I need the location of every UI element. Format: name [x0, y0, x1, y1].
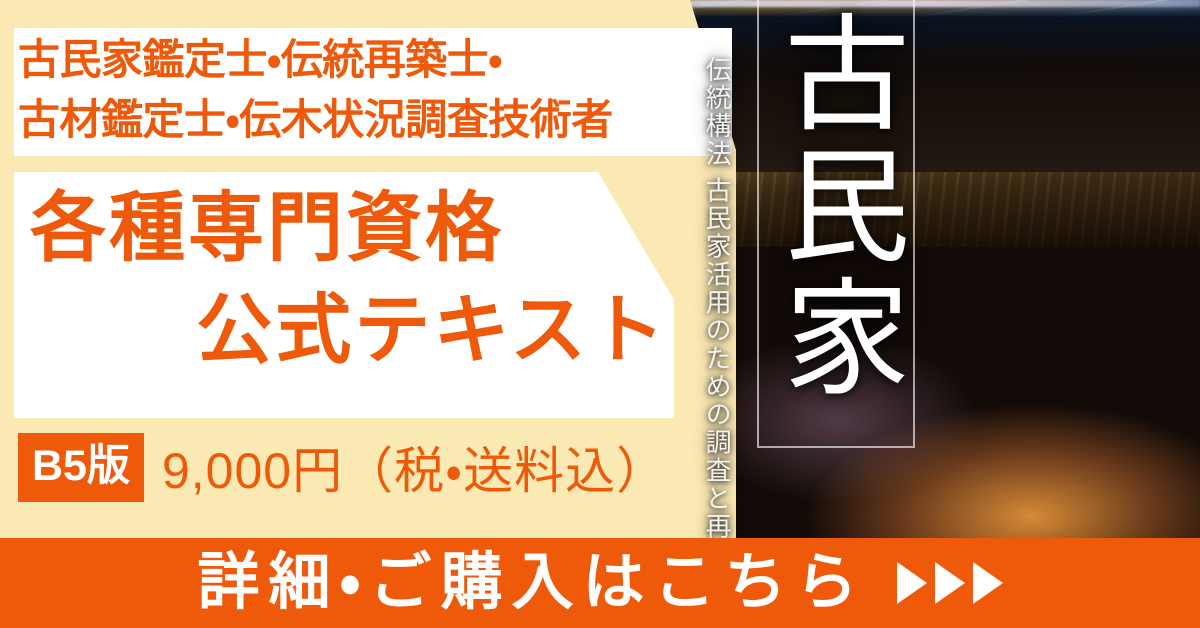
triangle-right-icon	[973, 562, 1003, 604]
cta-button[interactable]: 詳細・ご購入はこちら	[0, 538, 1200, 628]
format-badge: B5版	[18, 433, 144, 502]
qualification-line-2: 古材鑑定士・伝木状況調査技術者	[18, 90, 732, 150]
headline-line-2: 公式テキスト	[14, 280, 674, 382]
cover-subtitle: 伝統構法 古民家活用のための調査と再生の	[702, 56, 731, 556]
cta-arrows	[897, 562, 1003, 604]
triangle-right-icon	[897, 562, 927, 604]
qualification-line-1: 古民家鑑定士・伝統再築士・	[18, 30, 732, 90]
cta-label: 詳細・ご購入はこちら	[197, 552, 866, 614]
cover-title: 古民家	[768, 8, 908, 404]
price-text: 9,000円（税・送料込）	[162, 431, 667, 503]
qualifications-text: 古民家鑑定士・伝統再築士・ 古材鑑定士・伝木状況調査技術者	[18, 30, 732, 149]
headline-line-1: 各種専門資格	[14, 178, 674, 280]
page-title: 各種専門資格 公式テキスト	[14, 178, 674, 382]
triangle-right-icon	[935, 562, 965, 604]
promo-banner: 伝統構法 古民家活用のための調査と再生の 古民家 古民家鑑定士・伝統再築士・ 古…	[0, 0, 1200, 628]
price-row: B5版 9,000円（税・送料込）	[18, 432, 667, 502]
